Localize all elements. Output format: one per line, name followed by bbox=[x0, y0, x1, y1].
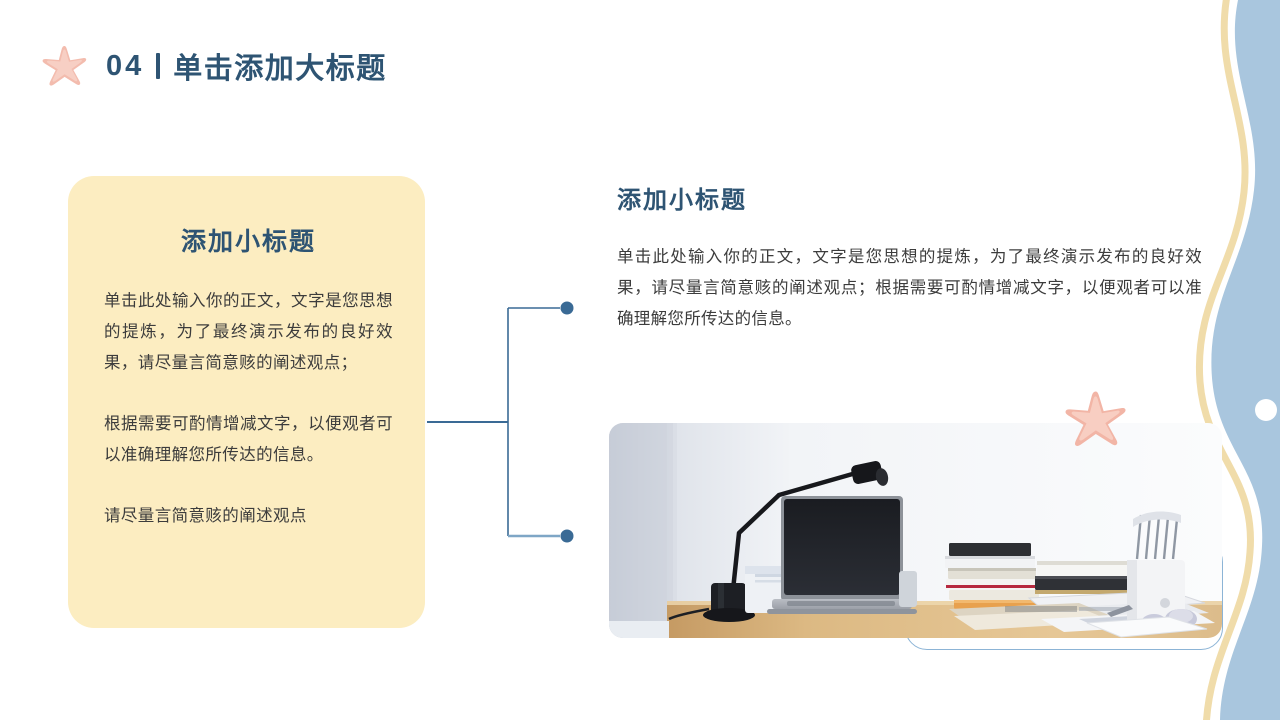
right-column-body: 单击此处输入你的正文，文字是您思想的提炼，为了最终演示发布的良好效果，请尽量言简… bbox=[617, 242, 1202, 335]
page-title: 04 单击添加大标题 bbox=[106, 45, 387, 87]
left-card-body: 单击此处输入你的正文，文字是您思想的提炼，为了最终演示发布的良好效果，请尽量言简… bbox=[104, 286, 393, 532]
right-content-column: 添加小标题 单击此处输入你的正文，文字是您思想的提炼，为了最终演示发布的良好效果… bbox=[617, 180, 1202, 335]
connector-bracket bbox=[420, 295, 585, 550]
page-title-text: 单击添加大标题 bbox=[173, 45, 387, 87]
starfish-icon bbox=[1062, 388, 1128, 450]
page-header: 04 单击添加大标题 bbox=[40, 40, 387, 92]
right-column-title: 添加小标题 bbox=[617, 180, 1202, 215]
connector-node-bottom bbox=[561, 530, 574, 543]
book-stack-left bbox=[945, 543, 1040, 609]
left-card-paragraph-2: 根据需要可酌情增减文字，以便观者可以准确理解您所传达的信息。 bbox=[104, 409, 393, 471]
left-card-paragraph-1: 单击此处输入你的正文，文字是您思想的提炼，为了最终演示发布的良好效果，请尽量言简… bbox=[104, 286, 393, 379]
page-title-separator bbox=[156, 53, 160, 79]
laptop bbox=[767, 496, 917, 614]
left-card-paragraph-3: 请尽量言简意赅的阐述观点 bbox=[104, 501, 393, 532]
white-dot-decoration bbox=[1255, 399, 1277, 421]
left-card-title: 添加小标题 bbox=[104, 222, 393, 258]
starfish-icon bbox=[40, 44, 88, 88]
slide-canvas: 04 单击添加大标题 添加小标题 单击此处输入你的正文，文字是您思想的提炼，为了… bbox=[0, 0, 1280, 720]
desk-photo bbox=[609, 423, 1222, 638]
page-title-number: 04 bbox=[106, 50, 144, 83]
connector-node-top bbox=[561, 302, 574, 315]
left-content-card: 添加小标题 单击此处输入你的正文，文字是您思想的提炼，为了最终演示发布的良好效果… bbox=[68, 176, 425, 628]
